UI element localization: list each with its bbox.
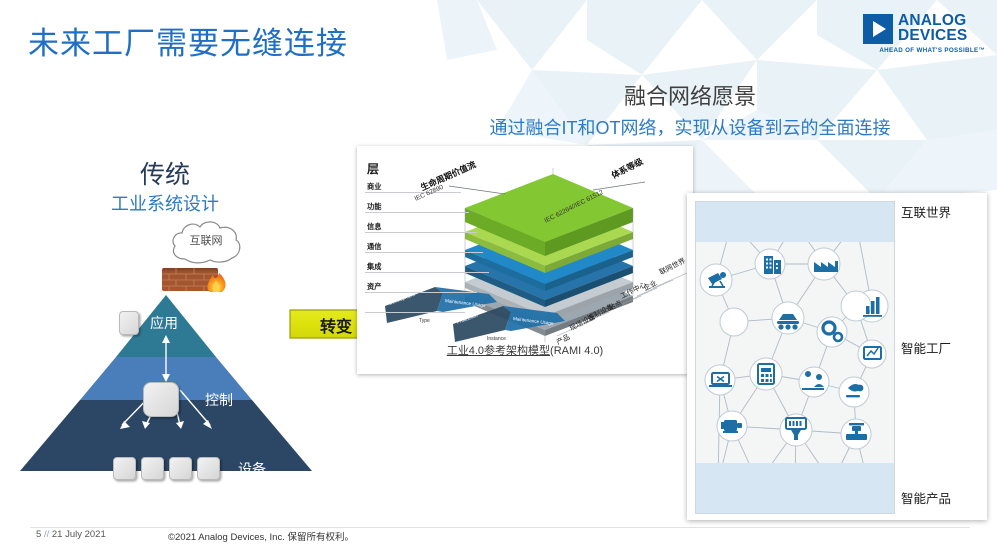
pyramid-node-device-2 xyxy=(141,457,164,480)
connected-world-panel: 互联世界 智能工厂 智能产品 xyxy=(687,193,987,520)
rami-layer-functional: 功能 xyxy=(367,202,381,212)
left-heading: 传统 xyxy=(0,155,330,191)
footer-page-number: 5 xyxy=(36,529,41,540)
slide-root: 未来工厂需要无缝连接 ANALOG DEVICES AHEAD OF WHAT'… xyxy=(0,0,997,560)
pyramid-node-control xyxy=(143,382,179,417)
footer-date: 21 July 2021 xyxy=(52,529,106,540)
left-subheading: 工业系统设计 xyxy=(0,190,330,216)
label-smart-products: 智能产品 xyxy=(901,488,951,507)
rami-layer-business: 商业 xyxy=(367,182,381,192)
pyramid-label-device: 设备 xyxy=(238,459,266,479)
rami-layer-integration: 集成 xyxy=(367,262,381,272)
network-graphic xyxy=(695,201,895,514)
footer-copyright: ©2021 Analog Devices, Inc. 保留所有权利。 xyxy=(168,529,354,543)
footer-separator: // xyxy=(44,529,49,540)
firewall-icon xyxy=(160,262,234,296)
pyramid-node-device-3 xyxy=(169,457,192,480)
page-title: 未来工厂需要无缝连接 xyxy=(28,18,348,63)
band-smart-products xyxy=(696,463,894,513)
rami-caption-link[interactable]: 工业4.0参考架构模型 xyxy=(447,345,550,357)
rami-layer-communication: 通信 xyxy=(367,242,381,252)
rami-cube-graphic xyxy=(357,146,693,374)
pyramid-node-device-1 xyxy=(113,457,136,480)
pyramid-label-control: 控制 xyxy=(205,390,233,410)
pyramid-node-application xyxy=(119,311,139,335)
rami-caption-rest: (RAMI 4.0) xyxy=(550,345,603,357)
rami-group-type: Type xyxy=(419,318,430,324)
band-connected-world xyxy=(696,202,894,242)
footer-divider xyxy=(30,527,970,528)
rami-layers-header: 层 xyxy=(367,160,379,177)
logo-line-2: DEVICES xyxy=(898,29,967,44)
logo-tagline: AHEAD OF WHAT'S POSSIBLE™ xyxy=(863,47,985,54)
pyramid-label-application: 应用 xyxy=(150,313,178,333)
label-smart-factory: 智能工厂 xyxy=(901,338,951,357)
center-subheading: 通过融合IT和OT网络，实现从设备到云的全面连接 xyxy=(400,114,980,140)
rami-caption: 工业4.0参考架构模型(RAMI 4.0) xyxy=(357,342,693,358)
adi-triangle-icon xyxy=(863,14,893,44)
center-heading: 融合网络愿景 xyxy=(430,79,950,111)
cloud-label: 互联网 xyxy=(168,232,244,248)
rami-layer-information: 信息 xyxy=(367,222,381,232)
analog-devices-logo: ANALOG DEVICES AHEAD OF WHAT'S POSSIBLE™ xyxy=(863,14,985,60)
pyramid-node-device-4 xyxy=(197,457,220,480)
footer-page-date: 5 // 21 July 2021 xyxy=(36,529,106,540)
label-connected-world: 互联世界 xyxy=(901,202,951,221)
rami-layer-asset: 资产 xyxy=(367,282,381,292)
rami-panel: 层 商业 功能 信息 通信 集成 资产 生命周期价值流 IEC 62890 体系… xyxy=(357,146,693,374)
